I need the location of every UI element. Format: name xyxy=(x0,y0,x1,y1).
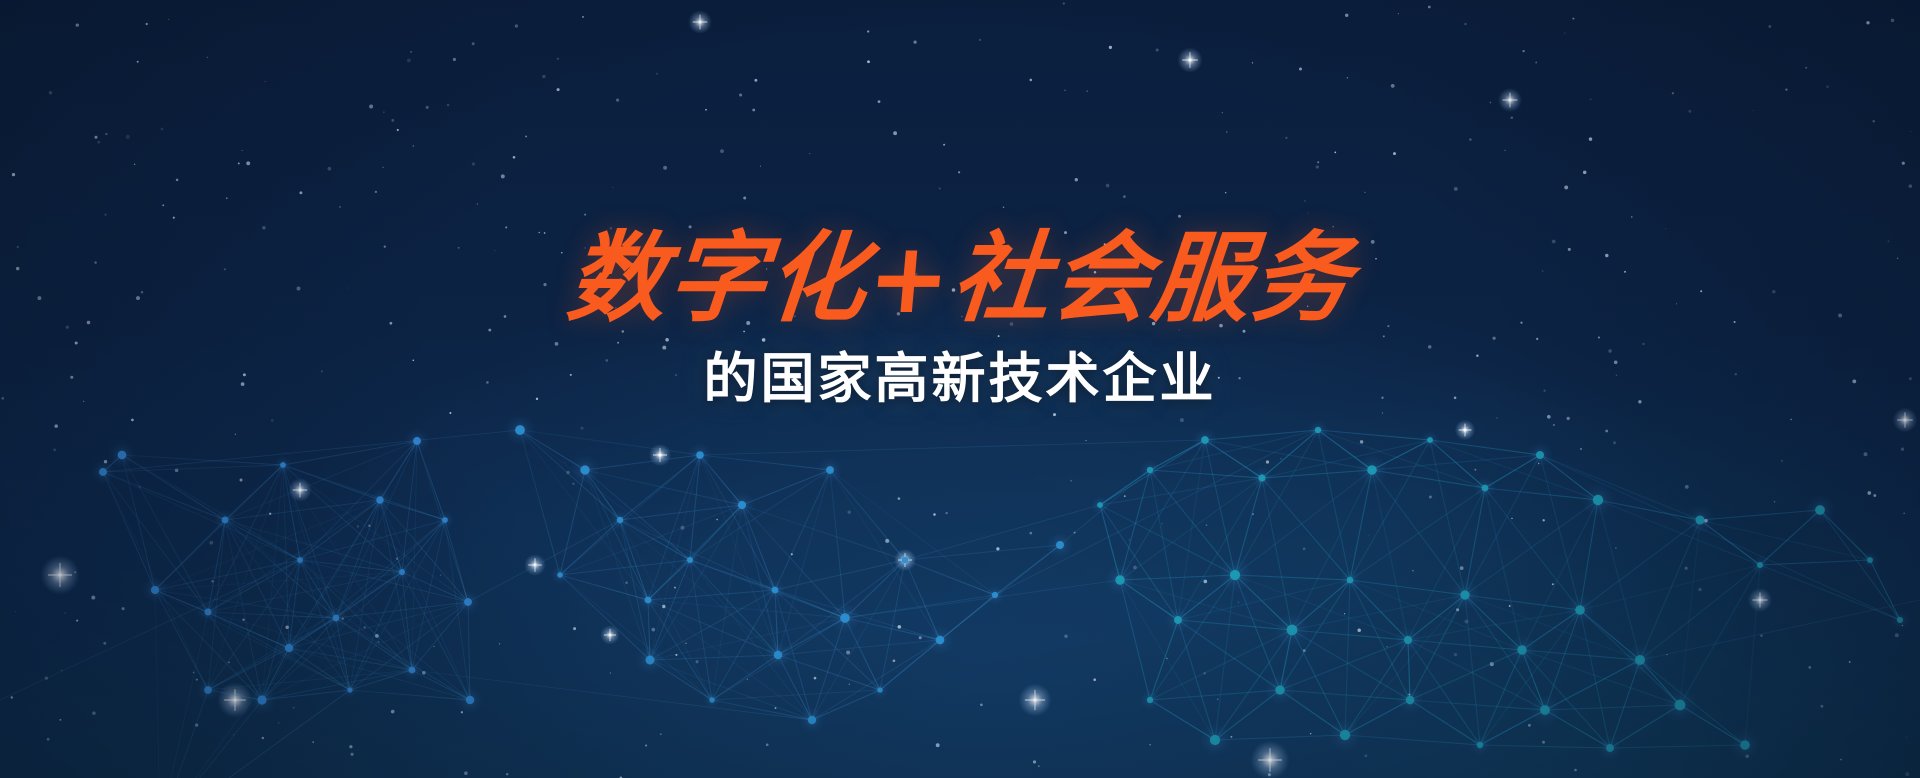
banner-text-block: 数字化+社会服务 的国家高新技术企业 xyxy=(0,228,1920,411)
mesh-edges-right xyxy=(1100,430,1900,748)
mesh-nodes-right xyxy=(1091,420,1910,761)
banner-subline: 的国家高新技术企业 xyxy=(0,346,1920,411)
mesh-edges-left xyxy=(103,441,470,778)
mesh-nodes-left xyxy=(90,428,483,778)
mesh-nodes-center xyxy=(504,414,1072,733)
banner-headline: 数字化+社会服务 xyxy=(0,228,1920,332)
hero-banner: 数字化+社会服务 的国家高新技术企业 xyxy=(0,0,1920,778)
